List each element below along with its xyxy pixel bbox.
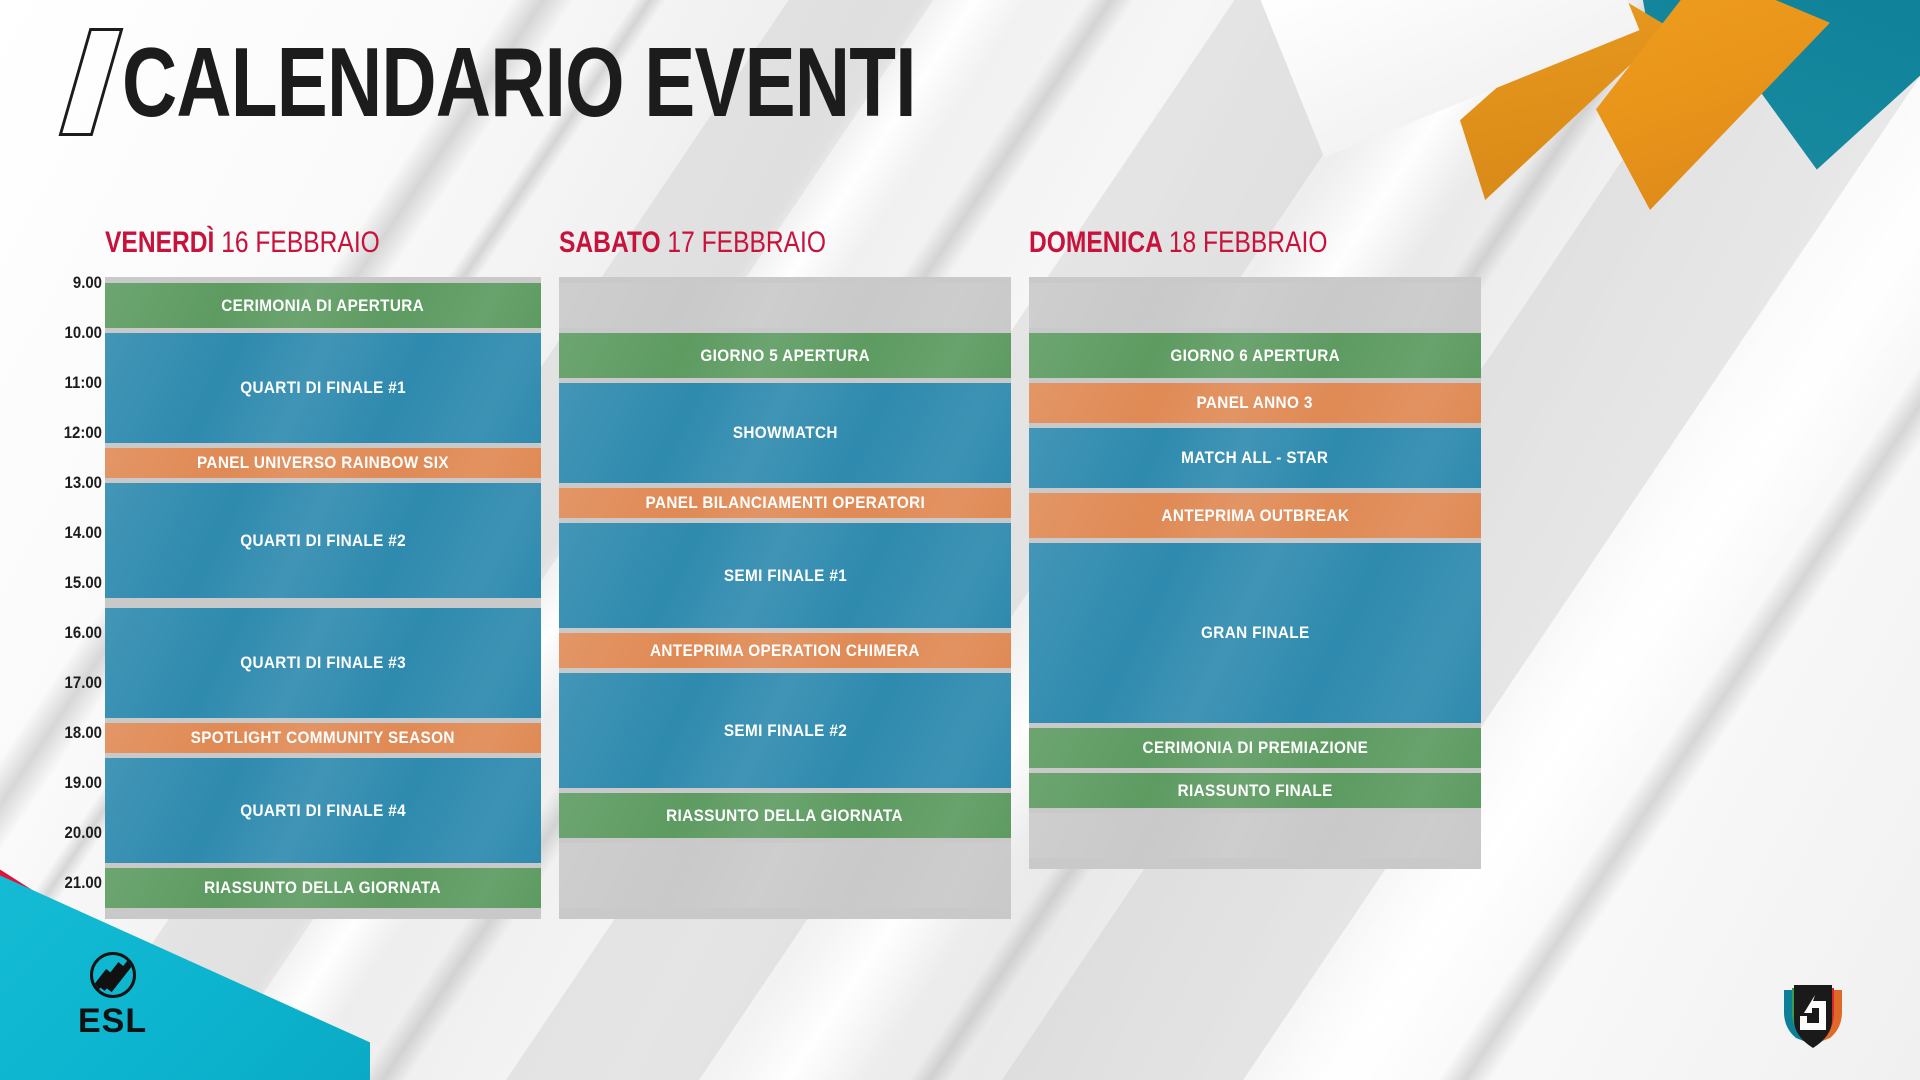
event-block[interactable]: ANTEPRIMA OPERATION CHIMERA — [559, 633, 1011, 668]
event-block[interactable]: SEMI FINALE #2 — [559, 673, 1011, 788]
rainbow-six-siege-logo — [1782, 982, 1844, 1052]
event-block-empty — [1029, 283, 1481, 328]
event-block[interactable]: SPOTLIGHT COMMUNITY SEASON — [105, 723, 541, 753]
time-tick: 14.00 — [37, 523, 102, 543]
event-block[interactable]: PANEL UNIVERSO RAINBOW SIX — [105, 448, 541, 478]
event-block-empty — [559, 283, 1011, 328]
time-tick: 11:00 — [37, 373, 102, 393]
event-label: GRAN FINALE — [1201, 623, 1310, 643]
event-block-empty — [559, 843, 1011, 908]
event-label: PANEL ANNO 3 — [1197, 393, 1313, 413]
event-block[interactable]: PANEL BILANCIAMENTI OPERATORI — [559, 488, 1011, 518]
event-block[interactable]: GIORNO 5 APERTURA — [559, 333, 1011, 378]
event-block[interactable]: CERIMONIA DI APERTURA — [105, 283, 541, 328]
event-block[interactable]: GRAN FINALE — [1029, 543, 1481, 723]
time-tick: 21.00 — [37, 873, 102, 893]
day-date: 18 FEBBRAIO — [1169, 226, 1328, 259]
event-block[interactable]: GIORNO 6 APERTURA — [1029, 333, 1481, 378]
time-tick: 15.00 — [37, 573, 102, 593]
day-header: VENERDÌ 16 FEBBRAIO — [105, 228, 380, 258]
event-label: GIORNO 5 APERTURA — [700, 346, 870, 366]
event-label: MATCH ALL - STAR — [1181, 448, 1328, 468]
event-label: SPOTLIGHT COMMUNITY SEASON — [191, 728, 455, 748]
event-label: SEMI FINALE #2 — [723, 721, 846, 741]
event-label: PANEL UNIVERSO RAINBOW SIX — [197, 453, 449, 473]
day-header: DOMENICA 18 FEBBRAIO — [1029, 228, 1327, 258]
event-label: RIASSUNTO FINALE — [1177, 781, 1332, 801]
day-weekday: VENERDÌ — [105, 226, 221, 259]
event-sheen — [559, 283, 1011, 328]
event-label: CERIMONIA DI APERTURA — [222, 296, 425, 316]
time-tick: 18.00 — [37, 723, 102, 743]
day-date: 17 FEBBRAIO — [667, 226, 826, 259]
event-sheen — [559, 843, 1011, 908]
event-block[interactable]: CERIMONIA DI PREMIAZIONE — [1029, 728, 1481, 768]
time-tick: 10.00 — [37, 323, 102, 343]
time-tick: 13.00 — [37, 473, 102, 493]
time-tick: 12:00 — [37, 423, 102, 443]
day-column-domenica: DOMENICA 18 FEBBRAIOGIORNO 6 APERTURAPAN… — [1029, 0, 1481, 1080]
day-weekday: SABATO — [559, 226, 667, 259]
esl-circle-icon — [90, 952, 136, 998]
time-tick: 20.00 — [37, 823, 102, 843]
event-block[interactable]: PANEL ANNO 3 — [1029, 383, 1481, 423]
event-block[interactable]: SHOWMATCH — [559, 383, 1011, 483]
event-label: RIASSUNTO DELLA GIORNATA — [667, 806, 904, 826]
event-label: QUARTI DI FINALE #4 — [240, 801, 406, 821]
time-tick: 9.00 — [37, 273, 102, 293]
event-label: QUARTI DI FINALE #3 — [240, 653, 406, 673]
event-label: ANTEPRIMA OPERATION CHIMERA — [650, 641, 920, 661]
event-label: PANEL BILANCIAMENTI OPERATORI — [645, 493, 925, 513]
event-block-empty — [1029, 813, 1481, 858]
event-schedule: 9.0010.0011:0012:0013.0014.0015.0016.001… — [0, 0, 1920, 1080]
time-tick: 19.00 — [37, 773, 102, 793]
time-tick: 17.00 — [37, 673, 102, 693]
event-block[interactable]: QUARTI DI FINALE #4 — [105, 758, 541, 863]
event-label: CERIMONIA DI PREMIAZIONE — [1142, 738, 1368, 758]
event-label: RIASSUNTO DELLA GIORNATA — [205, 878, 442, 898]
event-block[interactable]: RIASSUNTO DELLA GIORNATA — [105, 868, 541, 908]
time-axis: 9.0010.0011:0012:0013.0014.0015.0016.001… — [28, 0, 102, 1080]
day-date: 16 FEBBRAIO — [221, 226, 380, 259]
event-block[interactable]: QUARTI DI FINALE #1 — [105, 333, 541, 443]
event-label: GIORNO 6 APERTURA — [1170, 346, 1340, 366]
time-tick: 16.00 — [37, 623, 102, 643]
event-block[interactable]: SEMI FINALE #1 — [559, 523, 1011, 628]
event-label: QUARTI DI FINALE #2 — [240, 531, 406, 551]
esl-wordmark: ESL — [78, 1004, 147, 1038]
event-block[interactable]: MATCH ALL - STAR — [1029, 428, 1481, 488]
day-column-venerd: VENERDÌ 16 FEBBRAIOCERIMONIA DI APERTURA… — [105, 0, 541, 1080]
event-block[interactable]: RIASSUNTO DELLA GIORNATA — [559, 793, 1011, 838]
page-title: CALENDARIO EVENTI — [122, 33, 916, 131]
esl-logo: ESL — [78, 952, 147, 1038]
event-block[interactable]: RIASSUNTO FINALE — [1029, 773, 1481, 808]
page-header: CALENDARIO EVENTI — [74, 28, 1140, 136]
day-weekday: DOMENICA — [1029, 226, 1169, 259]
event-sheen — [1029, 283, 1481, 328]
event-block[interactable]: QUARTI DI FINALE #3 — [105, 608, 541, 718]
event-label: SEMI FINALE #1 — [723, 566, 846, 586]
event-label: SHOWMATCH — [733, 423, 838, 443]
day-header: SABATO 17 FEBBRAIO — [559, 228, 826, 258]
event-block[interactable]: QUARTI DI FINALE #2 — [105, 483, 541, 598]
event-label: QUARTI DI FINALE #1 — [240, 378, 406, 398]
event-label: ANTEPRIMA OUTBREAK — [1161, 506, 1349, 526]
event-block[interactable]: ANTEPRIMA OUTBREAK — [1029, 493, 1481, 538]
event-sheen — [1029, 813, 1481, 858]
day-column-sabato: SABATO 17 FEBBRAIOGIORNO 5 APERTURASHOWM… — [559, 0, 1011, 1080]
